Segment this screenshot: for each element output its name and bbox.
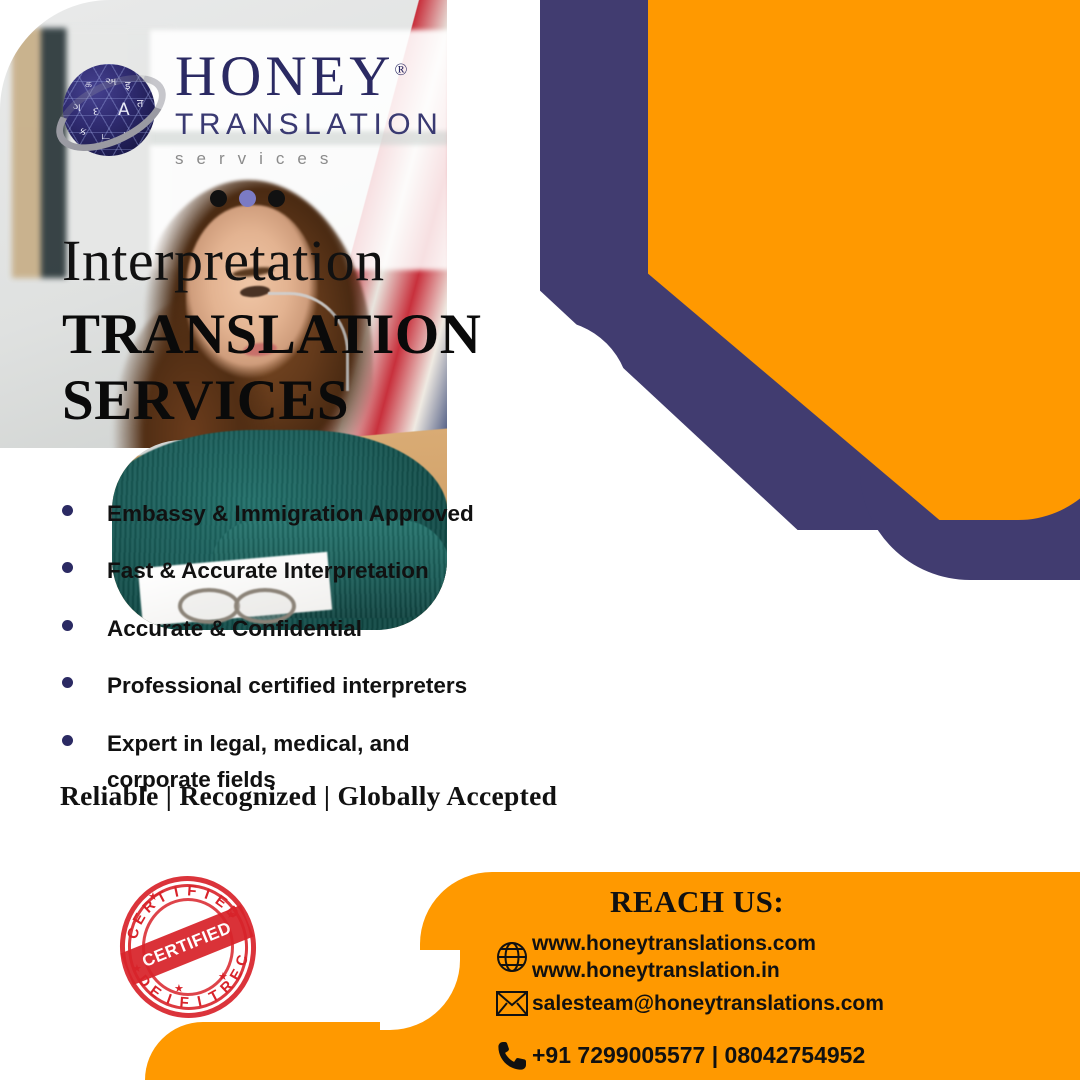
globe-icon bbox=[492, 940, 532, 974]
list-item-label: Professional certified interpreters bbox=[107, 668, 467, 704]
contact-row-phone[interactable]: +91 7299005577 | 08042754952 bbox=[492, 1040, 865, 1072]
website-line-1[interactable]: www.honeytranslations.com bbox=[532, 932, 816, 955]
envelope-icon bbox=[492, 990, 532, 1017]
logo-line-translation: TRANSLATION bbox=[175, 108, 443, 142]
reach-us-title: REACH US: bbox=[610, 884, 784, 920]
contact-row-email[interactable]: salesteam@honeytranslations.com bbox=[492, 990, 884, 1017]
tagline: Reliable | Recognized | Globally Accepte… bbox=[60, 780, 557, 812]
list-item-label: Fast & Accurate Interpretation bbox=[107, 553, 429, 589]
website-line-2[interactable]: www.honeytranslation.in bbox=[532, 959, 780, 982]
list-item-label: Accurate & Confidential bbox=[107, 611, 362, 647]
contact-email[interactable]: salesteam@honeytranslations.com bbox=[532, 990, 884, 1017]
contact-row-website[interactable]: www.honeytranslations.com www.honeytrans… bbox=[492, 930, 816, 985]
headline-script: Interpretation bbox=[62, 232, 532, 290]
list-item: Accurate & Confidential bbox=[56, 611, 526, 647]
bullet-dot-icon bbox=[62, 562, 73, 573]
registered-trademark-icon: ® bbox=[394, 60, 407, 79]
brand-logo: க અ इ ગ દ A त ક ட ம HONEY® TRANSLATION s… bbox=[55, 48, 455, 178]
page-title: Interpretation TRANSLATION SERVICES bbox=[62, 232, 532, 434]
contact-website[interactable]: www.honeytranslations.com www.honeytrans… bbox=[532, 930, 816, 985]
phone-icon bbox=[492, 1040, 532, 1072]
reach-us-content: REACH US: www.honeytranslations.com www.… bbox=[420, 872, 1080, 1080]
list-item-label: Embassy & Immigration Approved bbox=[107, 496, 474, 532]
poster-canvas: க અ इ ગ દ A त ક ட ம HONEY® TRANSLATION s… bbox=[0, 0, 1080, 1080]
headline-main-line1: TRANSLATION bbox=[62, 302, 532, 368]
headline-main-line2: SERVICES bbox=[62, 368, 532, 434]
contact-phone[interactable]: +91 7299005577 | 08042754952 bbox=[532, 1041, 865, 1071]
logo-wordmark: HONEY® TRANSLATION services bbox=[175, 48, 443, 169]
feature-list: Embassy & Immigration Approved Fast & Ac… bbox=[56, 496, 526, 820]
language-globe-icon: க અ इ ગ દ A त ક ட ம bbox=[55, 56, 167, 168]
certified-stamp-icon: CERTIFIED CERTIFIED ★ ★ ★ ★ ★ CERTIFIED bbox=[108, 872, 268, 1022]
list-item: Professional certified interpreters bbox=[56, 668, 526, 704]
bullet-dot-icon bbox=[62, 735, 73, 746]
logo-dots bbox=[210, 190, 285, 207]
headline-main: TRANSLATION SERVICES bbox=[62, 302, 532, 434]
bullet-dot-icon bbox=[62, 505, 73, 516]
list-item: Embassy & Immigration Approved bbox=[56, 496, 526, 532]
bullet-dot-icon bbox=[62, 620, 73, 631]
logo-brand-name: HONEY® bbox=[175, 48, 443, 106]
logo-line-services: services bbox=[175, 149, 443, 169]
list-item: Fast & Accurate Interpretation bbox=[56, 553, 526, 589]
bullet-dot-icon bbox=[62, 677, 73, 688]
